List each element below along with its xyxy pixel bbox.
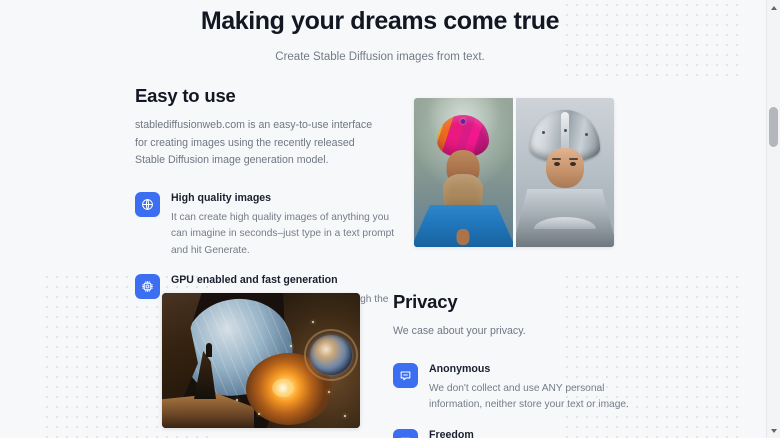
- hero-subtitle: Create Stable Diffusion images from text…: [0, 49, 760, 65]
- eye-shape: [554, 162, 560, 166]
- face-shape: [546, 148, 584, 188]
- chat-bubble-icon: [393, 363, 418, 388]
- feature-title: Freedom: [429, 428, 596, 438]
- feature-freedom: Freedom No limitations on what you can e…: [393, 428, 653, 438]
- light-spark: [344, 415, 346, 417]
- eyebrow-shape: [552, 158, 561, 160]
- processor-chip-icon: [135, 274, 160, 299]
- globe-icon: [135, 192, 160, 217]
- turban-gem: [461, 119, 466, 124]
- scroll-up-arrow-icon[interactable]: [767, 1, 780, 14]
- generated-image-gallery: [414, 98, 614, 247]
- celestial-orb: [310, 335, 352, 375]
- portrait-medieval-knight: [516, 98, 615, 247]
- scroll-down-arrow-icon[interactable]: [767, 424, 780, 437]
- lone-figure: [206, 343, 212, 357]
- feature-title: Anonymous: [429, 362, 653, 376]
- eyebrow-shape: [569, 158, 578, 160]
- eye-shape: [570, 162, 576, 166]
- section-easy-to-use: Easy to use stablediffusionweb.com is an…: [135, 84, 395, 325]
- cosmic-cavern-artwork: [162, 293, 360, 428]
- page-title: Making your dreams come true: [0, 4, 760, 38]
- hero-section: Making your dreams come true Create Stab…: [0, 0, 760, 65]
- feature-body: Freedom No limitations on what you can e…: [429, 428, 596, 438]
- feature-high-quality-images: High quality images It can create high q…: [135, 191, 395, 260]
- vortex-core: [272, 379, 294, 397]
- feature-title: GPU enabled and fast generation: [171, 273, 395, 287]
- feature-anonymous: Anonymous We don't collect and use ANY p…: [393, 362, 653, 414]
- feature-list-privacy: Anonymous We don't collect and use ANY p…: [393, 362, 653, 438]
- light-spark: [258, 413, 260, 415]
- envelope-icon: [393, 429, 418, 438]
- light-spark: [328, 391, 330, 393]
- feature-text: It can create high quality images of any…: [171, 210, 395, 260]
- feature-body: Anonymous We don't collect and use ANY p…: [429, 362, 653, 414]
- scroll-thumb[interactable]: [769, 107, 778, 147]
- vertical-scrollbar[interactable]: [766, 0, 780, 438]
- portrait-turbaned-elder: [414, 98, 513, 247]
- feature-title: High quality images: [171, 191, 395, 205]
- section-privacy: Privacy We case about your privacy. Anon…: [393, 290, 653, 438]
- section-description-easy-to-use: stablediffusionweb.com is an easy-to-use…: [135, 117, 385, 170]
- light-spark: [290, 345, 292, 347]
- helmet-rivet: [542, 131, 545, 134]
- light-spark: [312, 321, 314, 323]
- feature-text: We don't collect and use ANY personal in…: [429, 381, 653, 414]
- section-title-privacy: Privacy: [393, 290, 653, 314]
- helmet-rivet: [585, 133, 588, 136]
- section-title-easy-to-use: Easy to use: [135, 84, 395, 108]
- light-spark: [236, 399, 238, 401]
- helmet-rivet: [564, 129, 567, 132]
- hand-shape: [457, 229, 470, 245]
- page-root: Making your dreams come true Create Stab…: [0, 0, 780, 438]
- section-description-privacy: We case about your privacy.: [393, 323, 643, 341]
- feature-body: High quality images It can create high q…: [171, 191, 395, 260]
